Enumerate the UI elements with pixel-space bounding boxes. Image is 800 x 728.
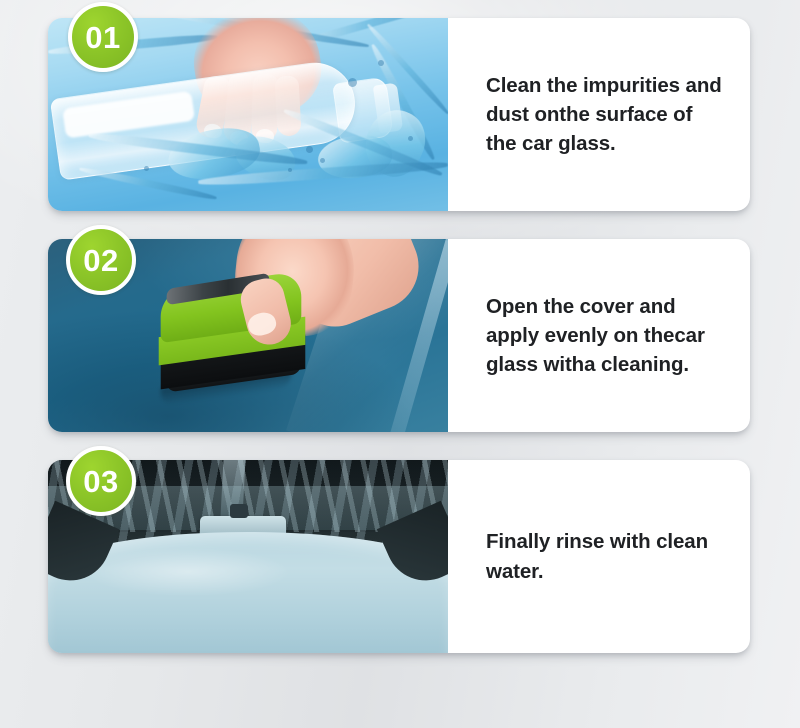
steps-list: 01 xyxy=(48,18,750,681)
step-description-2: Open the cover and apply evenly on theca… xyxy=(486,292,726,379)
step-card-3: 03 Finally rinse with clean water. xyxy=(48,460,750,653)
step-description-3: Finally rinse with clean water. xyxy=(486,527,726,585)
step-number-badge-3: 03 xyxy=(66,446,136,516)
water-droplet xyxy=(306,146,313,153)
step-text-container-3: Finally rinse with clean water. xyxy=(448,460,750,653)
step-number-badge-2: 02 xyxy=(66,225,136,295)
water-droplet xyxy=(378,60,384,66)
water-droplet xyxy=(348,78,357,87)
water-droplet xyxy=(288,168,292,172)
step-card-2: 02 Open the cover and apply evenly on th… xyxy=(48,239,750,432)
step-number-label: 03 xyxy=(83,466,118,497)
water-droplet xyxy=(320,158,325,163)
step-description-1: Clean the impurities and dust onthe surf… xyxy=(486,71,726,158)
water-droplet xyxy=(408,136,413,141)
water-droplet xyxy=(144,166,149,171)
step-number-badge-1: 01 xyxy=(68,2,138,72)
page-background: 01 xyxy=(0,0,800,728)
step-number-label: 01 xyxy=(85,22,120,53)
step-number-label: 02 xyxy=(83,245,118,276)
step-card-1: 01 xyxy=(48,18,750,211)
windshield-shine xyxy=(88,548,288,596)
step-text-container-1: Clean the impurities and dust onthe surf… xyxy=(448,18,750,211)
step-text-container-2: Open the cover and apply evenly on theca… xyxy=(448,239,750,432)
